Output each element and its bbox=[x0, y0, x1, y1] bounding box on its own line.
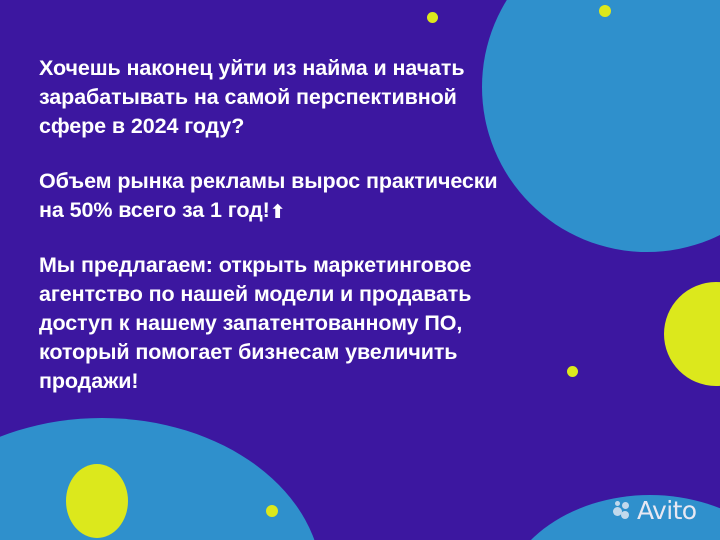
promo-slide: Хочешь наконец уйти из найма и начать за… bbox=[0, 0, 720, 540]
promo-stat-line: Объем рынка рекламы вырос практически на… bbox=[39, 167, 559, 225]
yellow-circle-right bbox=[664, 282, 720, 386]
yellow-dot-top-right bbox=[599, 5, 611, 17]
promo-offer-text: Мы предлагаем: открыть маркетинговое аге… bbox=[39, 251, 559, 396]
yellow-dot-mid-right bbox=[567, 366, 578, 377]
yellow-dot-top-left bbox=[427, 12, 438, 23]
promo-copy-block: Хочешь наконец уйти из найма и начать за… bbox=[39, 54, 559, 396]
arrow-up-icon: ⬆ bbox=[270, 203, 286, 222]
avito-logo: Avito bbox=[613, 498, 696, 523]
avito-dots-icon bbox=[613, 501, 633, 521]
avito-wordmark: Avito bbox=[637, 498, 696, 523]
promo-headline: Хочешь наконец уйти из найма и начать за… bbox=[39, 54, 559, 141]
blue-circle-bottom-left bbox=[0, 418, 322, 540]
yellow-circle-bottom-left bbox=[66, 464, 128, 538]
yellow-dot-bottom bbox=[266, 505, 278, 517]
promo-stat-text: Объем рынка рекламы вырос практически на… bbox=[39, 169, 498, 222]
